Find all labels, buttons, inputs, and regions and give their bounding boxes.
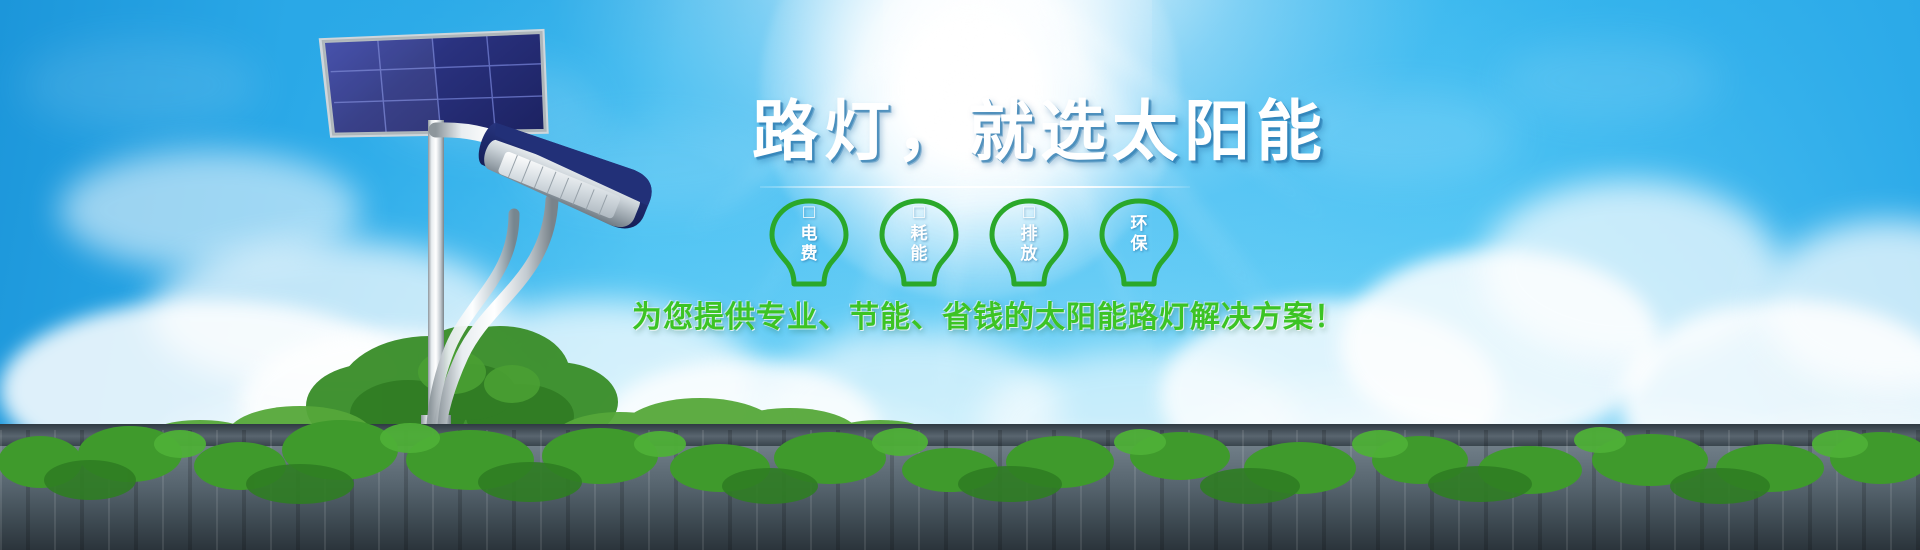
badge-zero-glyph: □ — [982, 202, 1076, 224]
badge-text: 排 放 — [982, 224, 1076, 264]
page-title: 路灯，就选太阳能 — [752, 98, 1328, 164]
badge-zero-energy-consumption: □耗 能 — [872, 196, 966, 288]
badge-label: □耗 能 — [872, 202, 966, 264]
wall-tile-pattern — [0, 430, 1920, 550]
badge-label: □排 放 — [982, 202, 1076, 264]
badge-text: 环 保 — [1092, 214, 1186, 254]
badge-text: 电 费 — [762, 224, 856, 264]
tagline: 为您提供专业、节能、省钱的太阳能路灯解决方案！ — [632, 292, 1345, 336]
badge-zero-glyph: □ — [762, 202, 856, 224]
badge-eco-friendly: 环 保 — [1092, 196, 1186, 288]
badge-zero-emission: □排 放 — [982, 196, 1076, 288]
solar-streetlight-banner: 路灯，就选太阳能 □电 费□耗 能□排 放环 保 为您提供专业、节能、省钱的太阳… — [0, 0, 1920, 550]
badge-label: 环 保 — [1092, 214, 1186, 254]
badge-label: □电 费 — [762, 202, 856, 264]
badge-zero-electricity-fee: □电 费 — [762, 196, 856, 288]
title-divider — [760, 186, 1190, 188]
feature-badge-list: □电 费□耗 能□排 放环 保 — [762, 196, 1202, 296]
badge-zero-glyph: □ — [872, 202, 966, 224]
badge-text: 耗 能 — [872, 224, 966, 264]
